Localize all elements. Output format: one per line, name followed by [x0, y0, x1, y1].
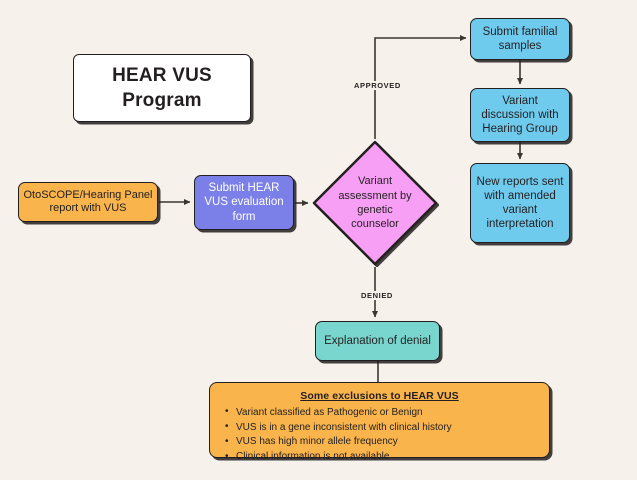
- node-label: Submit familial samples: [476, 25, 564, 53]
- node-label: New reports sent with amended variant in…: [476, 175, 564, 231]
- diagram-title-card: HEAR VUS Program: [73, 54, 251, 122]
- exclusions-panel-title: Some exclusions to HEAR VUS: [222, 390, 537, 403]
- node-variant-assessment-decision[interactable]: Variant assessment by genetic counselor: [311, 139, 439, 267]
- node-label: OtoSCOPE/Hearing Panel report with VUS: [23, 189, 153, 216]
- node-label: Variant discussion with Hearing Group: [476, 94, 564, 136]
- node-otoscope-report[interactable]: OtoSCOPE/Hearing Panel report with VUS: [18, 182, 158, 222]
- node-explanation-of-denial[interactable]: Explanation of denial: [315, 321, 440, 361]
- node-submit-evaluation-form[interactable]: Submit HEAR VUS evaluation form: [194, 175, 294, 230]
- node-exclusions-panel[interactable]: Some exclusions to HEAR VUS Variant clas…: [209, 382, 550, 458]
- node-new-reports-amended[interactable]: New reports sent with amended variant in…: [470, 163, 570, 243]
- node-variant-discussion[interactable]: Variant discussion with Hearing Group: [470, 88, 570, 142]
- list-item: VUS has high minor allele frequency: [222, 435, 537, 450]
- node-submit-familial-samples[interactable]: Submit familial samples: [470, 18, 570, 60]
- page-title-line-2: Program: [122, 88, 202, 113]
- flowchart-canvas: HEAR VUS Program OtoSCOPE/Hearing Panel …: [0, 0, 637, 480]
- edge-label-approved: APPROVED: [351, 81, 404, 90]
- list-item: Clinical information is not available: [222, 450, 537, 465]
- list-item: Variant classified as Pathogenic or Beni…: [222, 406, 537, 421]
- node-label: Explanation of denial: [324, 334, 431, 348]
- node-label: Variant assessment by genetic counselor: [332, 174, 418, 231]
- node-label: Submit HEAR VUS evaluation form: [199, 181, 289, 223]
- list-item: VUS is in a gene inconsistent with clini…: [222, 421, 537, 436]
- edge-label-denied: DENIED: [358, 291, 396, 300]
- exclusions-list: Variant classified as Pathogenic or Beni…: [222, 406, 537, 465]
- page-title-line-1: HEAR VUS: [112, 63, 212, 88]
